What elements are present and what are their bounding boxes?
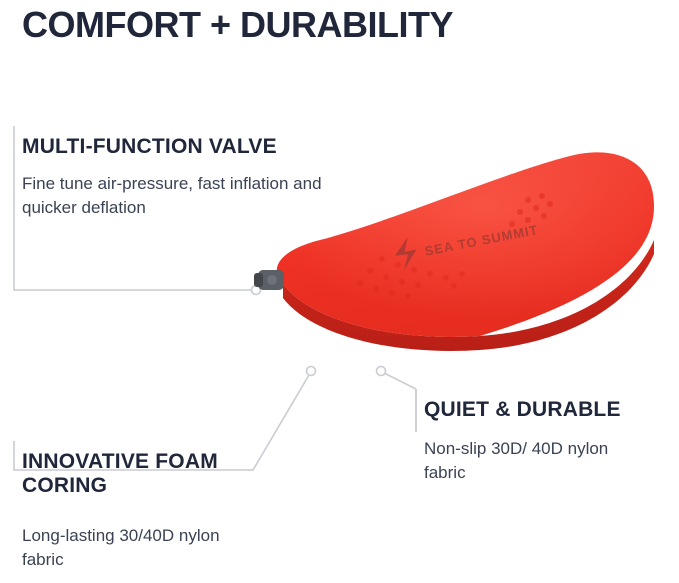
callout-body-foam: Long-lasting 30/40D nylon fabric [22,524,262,572]
callout-body-quiet: Non-slip 30D/ 40D nylon fabric [424,437,654,485]
callout-heading-foam: INNOVATIVE FOAM CORING [22,450,242,498]
callout-heading-valve: MULTI-FUNCTION VALVE [22,135,277,159]
infographic-page: COMFORT + DURABILITY [0,0,679,583]
callout-body-valve: Fine tune air-pressure, fast inflation a… [22,172,352,220]
multi-function-valve-icon [254,270,284,290]
callout-heading-quiet: QUIET & DURABLE [424,398,621,422]
page-title: COMFORT + DURABILITY [22,2,453,47]
product-illustration: SEA TO SUMMIT [250,128,670,368]
